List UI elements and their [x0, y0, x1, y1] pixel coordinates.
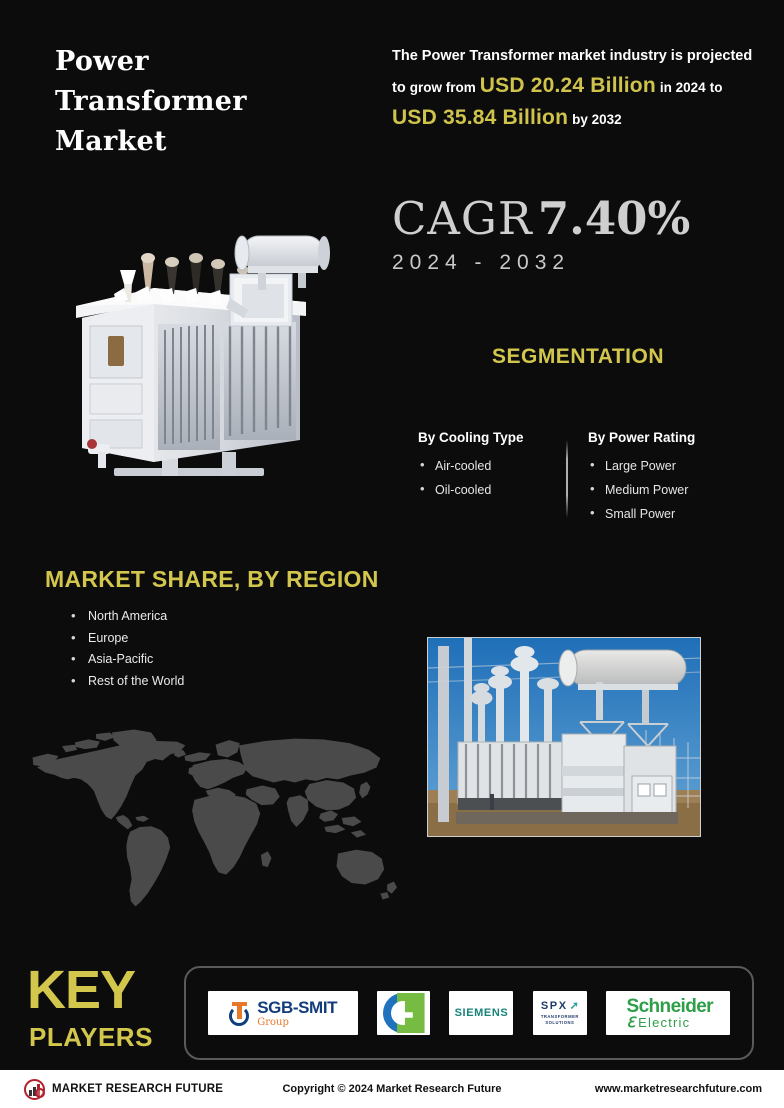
logo-siemens[interactable]: SIEMENS [449, 991, 513, 1035]
market-research-future-logo-icon [24, 1079, 45, 1100]
segment-column-power-rating: By Power Rating Large Power Medium Power… [566, 430, 746, 526]
logo-sgb-smit-sub: Group [257, 1018, 337, 1028]
market-share-region-list: North America Europe Asia-Pacific Rest o… [68, 606, 184, 692]
schneider-mark-icon: ℇ [627, 1015, 636, 1029]
page-title: Power Transformer Market [55, 42, 355, 162]
logo-schneider-name: Schneider [627, 997, 713, 1016]
cagr-headline: CAGR 7.40% [392, 192, 764, 245]
segmentation-title: SEGMENTATION [392, 345, 764, 369]
key-players-label-line-1: KEY [27, 963, 135, 1017]
footer-website[interactable]: www.marketresearchfuture.com [595, 1083, 762, 1095]
transformer-svg [62, 222, 352, 502]
key-players-label-line-2: PLAYERS [29, 1024, 153, 1050]
segment-item: Small Power [588, 502, 746, 526]
sgb-smit-mark-icon [228, 1000, 251, 1026]
headline-value-1: USD 20.24 Billion [480, 74, 656, 97]
spx-arrow-icon: ➚ [570, 1001, 579, 1012]
segment-item: Medium Power [588, 478, 746, 502]
footer-brand-name: MARKET RESEARCH FUTURE [52, 1083, 223, 1095]
footer: Copyright © 2024 Market Research Future … [0, 1070, 784, 1108]
segment-item: Air-cooled [418, 454, 566, 478]
segment-item: Large Power [588, 454, 746, 478]
world-map-svg [22, 722, 400, 920]
segment-column-cooling-type: By Cooling Type Air-cooled Oil-cooled [418, 430, 566, 526]
substation-svg [428, 638, 701, 837]
logo-sgb-smit-name: SGB-SMIT [257, 999, 337, 1016]
key-players-logo-container: SGB-SMIT Group SIEMENS SPX ➚ TRANSFORMER [184, 966, 754, 1060]
segment-heading: By Power Rating [588, 430, 746, 445]
substation-photo [427, 637, 701, 837]
page-title-line-2: Transformer [55, 82, 355, 122]
logo-sgb-smit[interactable]: SGB-SMIT Group [208, 991, 358, 1035]
page-title-line-3: Market [55, 122, 355, 162]
region-item: Asia-Pacific [68, 649, 184, 671]
headline-part-4: to [710, 80, 723, 95]
logo-spx[interactable]: SPX ➚ TRANSFORMER SOLUTIONS [533, 991, 587, 1035]
headline-part-2: grow from [410, 80, 476, 95]
logo-spx-sub-1: TRANSFORMER [541, 1015, 579, 1019]
market-share-title: MARKET SHARE, BY REGION [45, 566, 379, 593]
world-map [22, 722, 400, 920]
headline-part-3: in 2024 [660, 80, 706, 95]
logo-spx-name: SPX [541, 1001, 568, 1012]
logo-spx-sub-2: SOLUTIONS [541, 1021, 579, 1025]
power-transformer-illustration [62, 222, 352, 502]
logo-schneider-sub: Electric [638, 1016, 690, 1029]
cg-mark-icon [383, 993, 425, 1033]
cagr-value: 7.40% [538, 192, 690, 245]
region-item: Rest of the World [68, 671, 184, 693]
region-item: Europe [68, 628, 184, 650]
logo-siemens-name: SIEMENS [455, 1007, 509, 1019]
headline-value-2: USD 35.84 Billion [392, 106, 568, 129]
cagr-period: 2024 - 2032 [392, 251, 764, 275]
page-title-line-1: Power [55, 42, 355, 82]
cagr-block: CAGR 7.40% 2024 - 2032 [392, 192, 764, 275]
segment-item: Oil-cooled [418, 478, 566, 502]
headline-part-5: by 2032 [572, 112, 622, 127]
region-item: North America [68, 606, 184, 628]
footer-brand: MARKET RESEARCH FUTURE [24, 1079, 223, 1100]
segment-heading: By Cooling Type [418, 430, 566, 445]
segmentation-columns: By Cooling Type Air-cooled Oil-cooled By… [418, 430, 758, 526]
logo-schneider-electric[interactable]: Schneider ℇ Electric [606, 991, 730, 1035]
infographic-page: Power Transformer Market The Power Trans… [0, 0, 784, 1108]
cagr-label: CAGR [392, 192, 533, 245]
headline-stat: The Power Transformer market industry is… [392, 41, 764, 135]
logo-cg[interactable] [377, 991, 430, 1035]
